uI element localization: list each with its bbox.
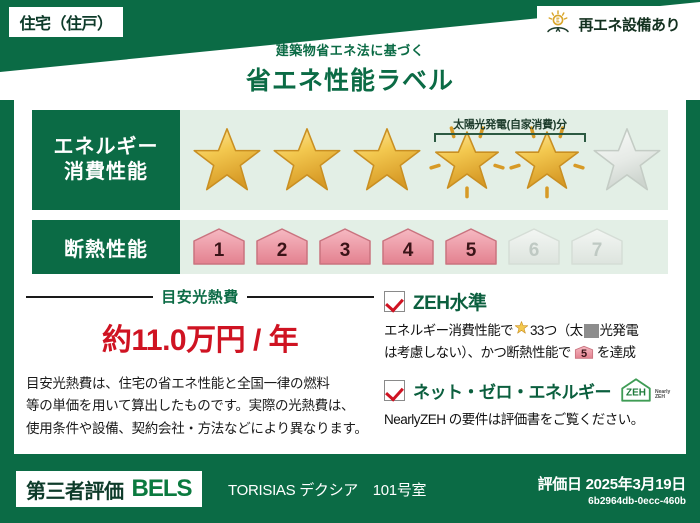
insulation-grade-3-number: 3 — [340, 240, 351, 267]
label-title: 建築物省エネ法に基づく 省エネ性能ラベル — [0, 40, 700, 97]
zeh-desc-text-b: 3つ（太 — [537, 320, 583, 342]
insulation-row-label: 断熱性能 — [32, 220, 180, 274]
energy-row-label: エネルギー 消費性能 — [32, 110, 180, 210]
bracket-line — [434, 133, 586, 142]
evaluation-date-label: 評価日 — [538, 476, 582, 493]
zeh-desc-star-count: 3 — [530, 320, 537, 342]
zeh-desc-text-d: は考慮しない）、かつ断熱性能で — [384, 342, 571, 364]
renewable-badge-label: 再エネ設備あり — [578, 14, 680, 35]
inline-star-icon — [514, 320, 529, 342]
energy-label-line2: 消費性能 — [64, 160, 148, 185]
bels-certification-box: 第三者評価 BELS — [16, 471, 202, 507]
property-name: TORISIAS デクシア 101号室 — [228, 479, 426, 500]
zeh-house-icon: ZEH — [619, 377, 653, 403]
insulation-performance-row: 断熱性能 1 — [32, 220, 668, 274]
zeh-logo-sub: Nearly ZEH — [655, 390, 670, 404]
title-main: 省エネ性能ラベル — [0, 61, 700, 97]
utility-cost-value: 約11.0万円 / 年 — [26, 315, 374, 359]
net-zero-description: NearlyZEH の要件は評価書をご覧ください。 — [384, 408, 684, 428]
evaluation-id: 6b2964db-0ecc-460b — [538, 496, 686, 507]
net-zero-checkbox-checked-icon — [384, 380, 405, 401]
zeh-desc-text-e: を達成 — [597, 342, 636, 364]
insulation-grade-4-number: 4 — [403, 240, 414, 267]
cost-note-line-2: 等の単価を用いて算出したものです。実際の光熱費は、 — [26, 395, 374, 417]
cost-note-line-1: 目安光熱費は、住宅の省エネ性能と全国一律の燃料 — [26, 373, 374, 395]
zeh-logo: ZEH Nearly ZEH — [619, 377, 670, 403]
cost-note-line-3: 使用条件や設備、契約会社・方法などにより異なります。 — [26, 418, 374, 440]
zeh-standard-description: エネルギー消費性能で 3 3つ（太 光発電 は考慮しない）、かつ断熱性能で — [384, 320, 684, 363]
svg-text:ZEH: ZEH — [626, 388, 646, 399]
energy-consumption-row: エネルギー 消費性能 太陽光発電(自家消費)分 — [32, 110, 668, 210]
zeh-block: ZEH水準 エネルギー消費性能で 3 3つ（太 光発電 は考慮しない）、かつ断熱… — [384, 288, 684, 428]
building-type-tag: 住宅（住戸） — [8, 6, 124, 38]
solar-sun-icon — [545, 10, 571, 39]
utility-cost-title: 目安光熱費 — [161, 286, 239, 307]
zeh-desc-text-a: エネルギー消費性能で — [384, 320, 513, 342]
inline-house-grade-number: 5 — [574, 346, 594, 364]
zeh-desc-line-1: エネルギー消費性能で 3 3つ（太 光発電 — [384, 320, 684, 342]
renewable-equipment-badge: 再エネ設備あり — [537, 6, 692, 42]
title-subtitle: 建築物省エネ法に基づく — [0, 40, 700, 59]
star-2-filled — [268, 121, 346, 199]
energy-row-body: 太陽光発電(自家消費)分 — [180, 110, 668, 210]
insulation-grade-7: 7 — [568, 227, 626, 267]
heading-rule-left — [26, 296, 153, 298]
energy-performance-label: 住宅（住戸） 再エネ設備あり 建築物省エネ法に基づく 省エネ性能ラベル — [0, 0, 700, 523]
zeh-standard-title: ZEH水準 — [413, 288, 487, 315]
insulation-grade-2: 2 — [253, 227, 311, 267]
zeh-standard-head: ZEH水準 — [384, 288, 684, 315]
evaluation-date-value: 2025年3月19日 — [586, 476, 686, 493]
insulation-grade-1: 1 — [190, 227, 248, 267]
insulation-grade-6: 6 — [505, 227, 563, 267]
heading-rule-right — [247, 296, 374, 298]
insulation-grade-5-number: 5 — [466, 240, 477, 267]
net-zero-title: ネット・ゼロ・エネルギー — [413, 378, 611, 403]
energy-label-line1: エネルギー — [54, 135, 159, 160]
solar-portion-bracket: 太陽光発電(自家消費)分 — [434, 116, 586, 142]
zeh-desc-line-2: は考慮しない）、かつ断熱性能で 5 を達成 — [384, 342, 684, 364]
utility-cost-heading: 目安光熱費 — [26, 286, 374, 307]
inline-house-grade-icon: 5 — [574, 344, 594, 361]
star-1-filled — [188, 121, 266, 199]
label-footer: 第三者評価 BELS TORISIAS デクシア 101号室 評価日 2025年… — [0, 463, 700, 523]
insulation-grade-3: 3 — [316, 227, 374, 267]
energy-star-rating — [180, 121, 666, 199]
insulation-grade-5: 5 — [442, 227, 500, 267]
zeh-logo-sub-line2: ZEH — [655, 394, 665, 400]
utility-cost-block: 目安光熱費 約11.0万円 / 年 目安光熱費は、住宅の省エネ性能と全国一律の燃… — [26, 286, 374, 440]
evaluation-info: 評価日 2025年3月19日 6b2964db-0ecc-460b — [538, 473, 686, 507]
evaluation-date: 評価日 2025年3月19日 — [538, 473, 686, 494]
insulation-grade-7-number: 7 — [592, 240, 603, 267]
insulation-grade-2-number: 2 — [277, 240, 288, 267]
zeh-desc-text-c: 光発電 — [600, 320, 639, 342]
third-party-label: 第三者評価 — [26, 475, 124, 504]
solar-bracket-caption: 太陽光発電(自家消費)分 — [434, 116, 586, 132]
star-3-filled — [348, 121, 426, 199]
star-6-empty — [588, 121, 666, 199]
insulation-grade-4: 4 — [379, 227, 437, 267]
insulation-grade-1-number: 1 — [214, 240, 225, 267]
insulation-row-body: 1 2 3 4 — [180, 220, 668, 274]
net-zero-head: ネット・ゼロ・エネルギー ZEH Nearly ZEH — [384, 377, 684, 403]
bels-logo-text: BELS — [132, 475, 192, 503]
zeh-standard-checkbox-checked-icon — [384, 291, 405, 312]
insulation-grade-6-number: 6 — [529, 240, 540, 267]
redacted-character-block — [584, 324, 599, 338]
utility-cost-note: 目安光熱費は、住宅の省エネ性能と全国一律の燃料 等の単価を用いて算出したものです… — [26, 373, 374, 440]
